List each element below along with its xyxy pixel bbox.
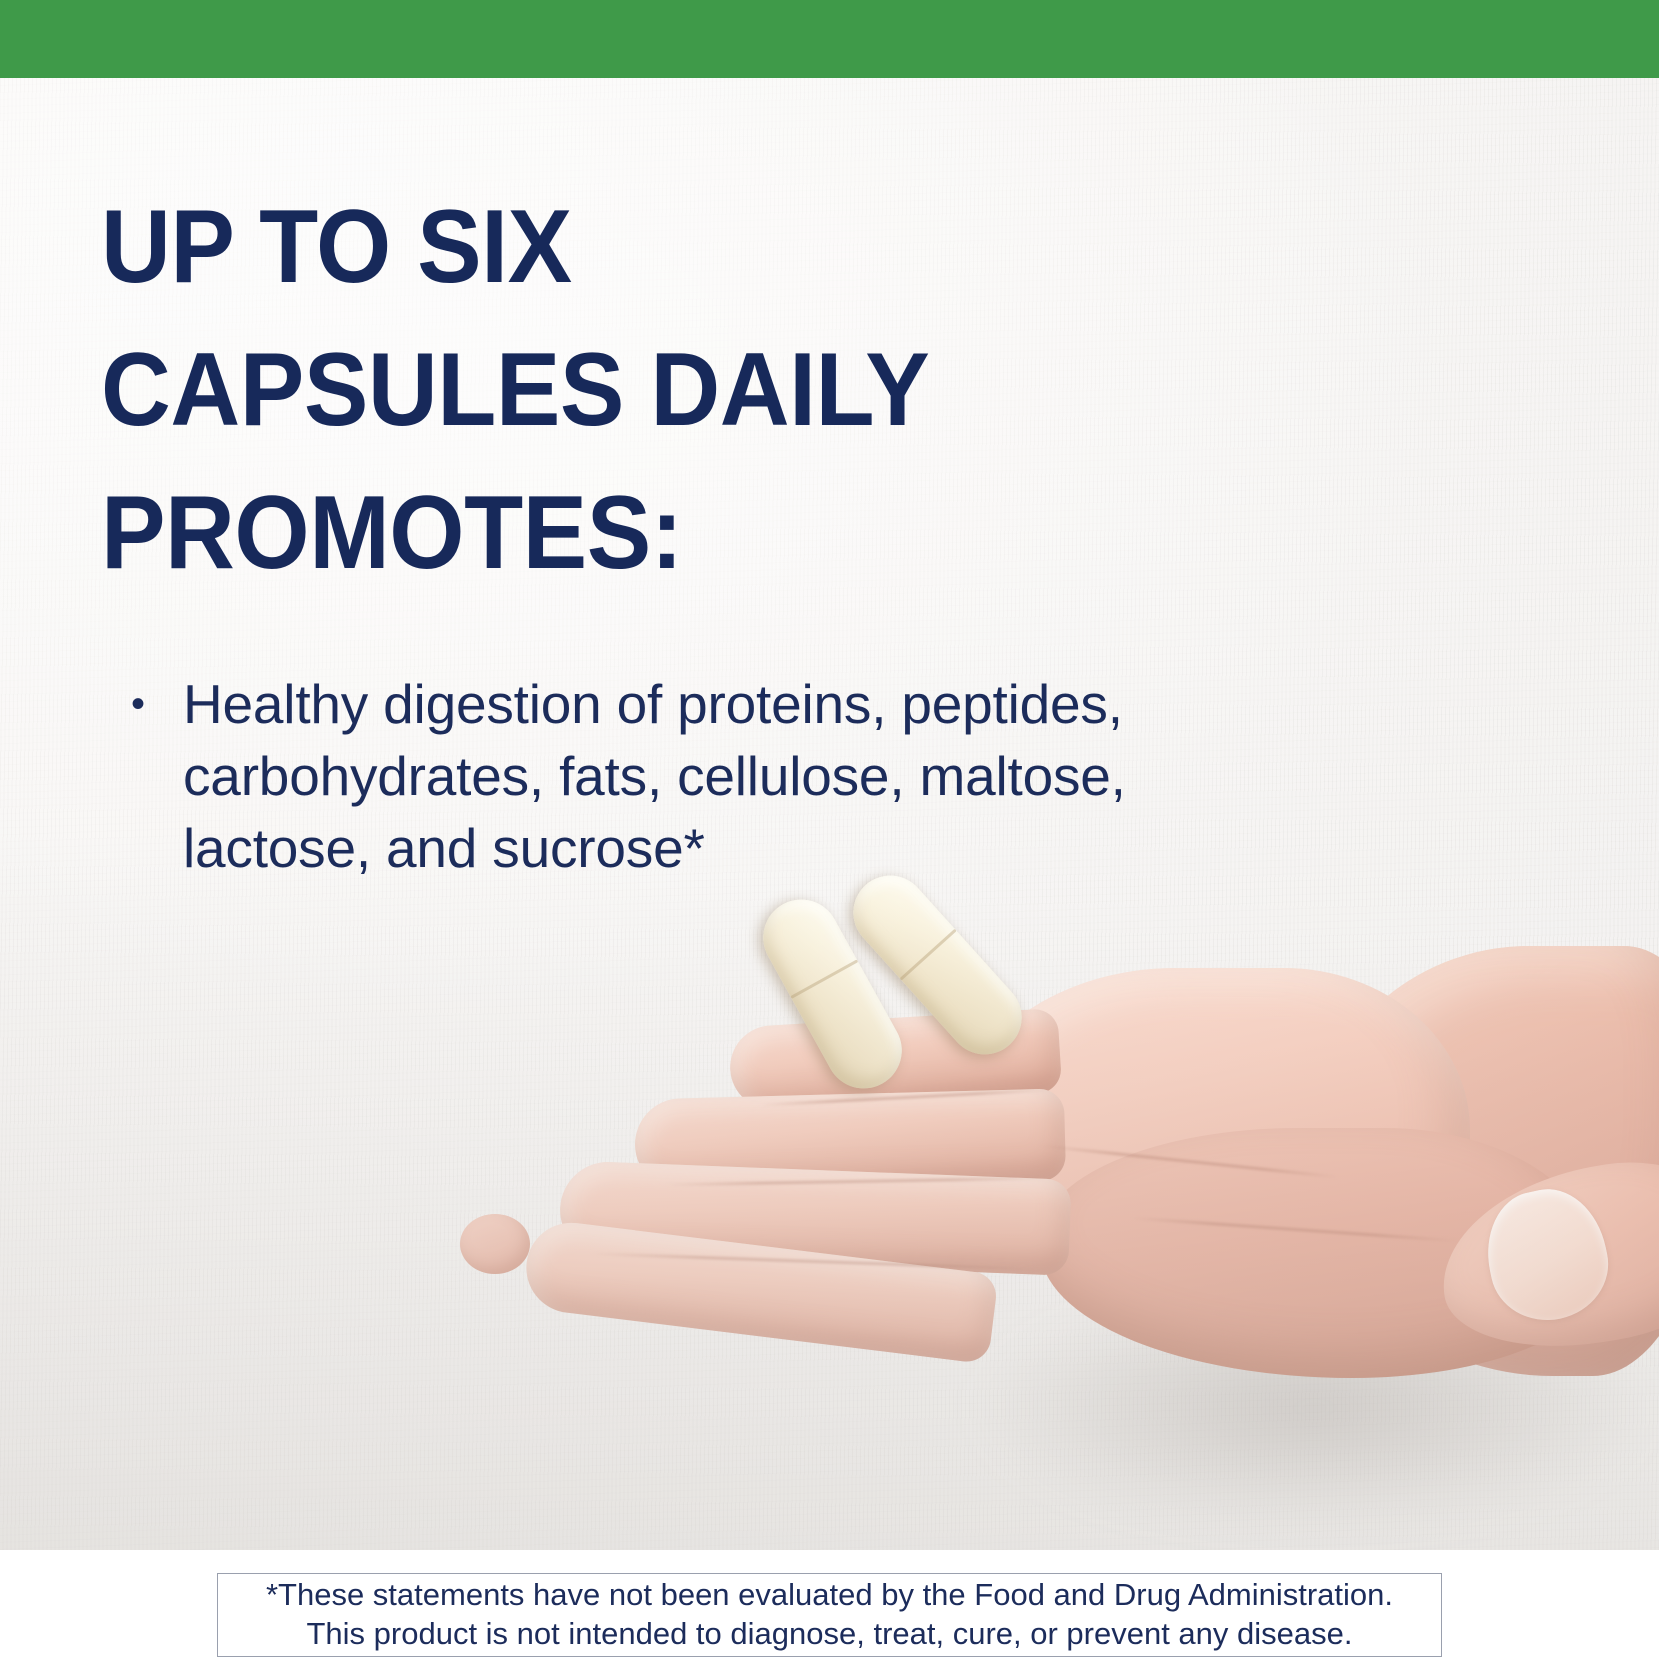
bullet-point-icon: • (125, 668, 183, 740)
capsule-seam (900, 929, 957, 981)
open-hand-illustration (430, 898, 1659, 1458)
top-accent-bar (0, 0, 1659, 78)
page-title: UP TO SIX CAPSULES DAILY PROMOTES: (101, 176, 1264, 605)
product-info-panel: UP TO SIX CAPSULES DAILY PROMOTES: • Hea… (0, 0, 1659, 1659)
list-item: • Healthy digestion of proteins, peptide… (125, 668, 1315, 884)
capsule-seam (790, 959, 858, 998)
fingertip-shape (460, 1214, 530, 1274)
fda-disclaimer-text: *These statements have not been evaluate… (266, 1575, 1393, 1653)
benefits-list: • Healthy digestion of proteins, peptide… (125, 668, 1315, 884)
benefit-text: Healthy digestion of proteins, peptides,… (183, 668, 1278, 884)
fda-disclaimer-box: *These statements have not been evaluate… (217, 1573, 1442, 1657)
